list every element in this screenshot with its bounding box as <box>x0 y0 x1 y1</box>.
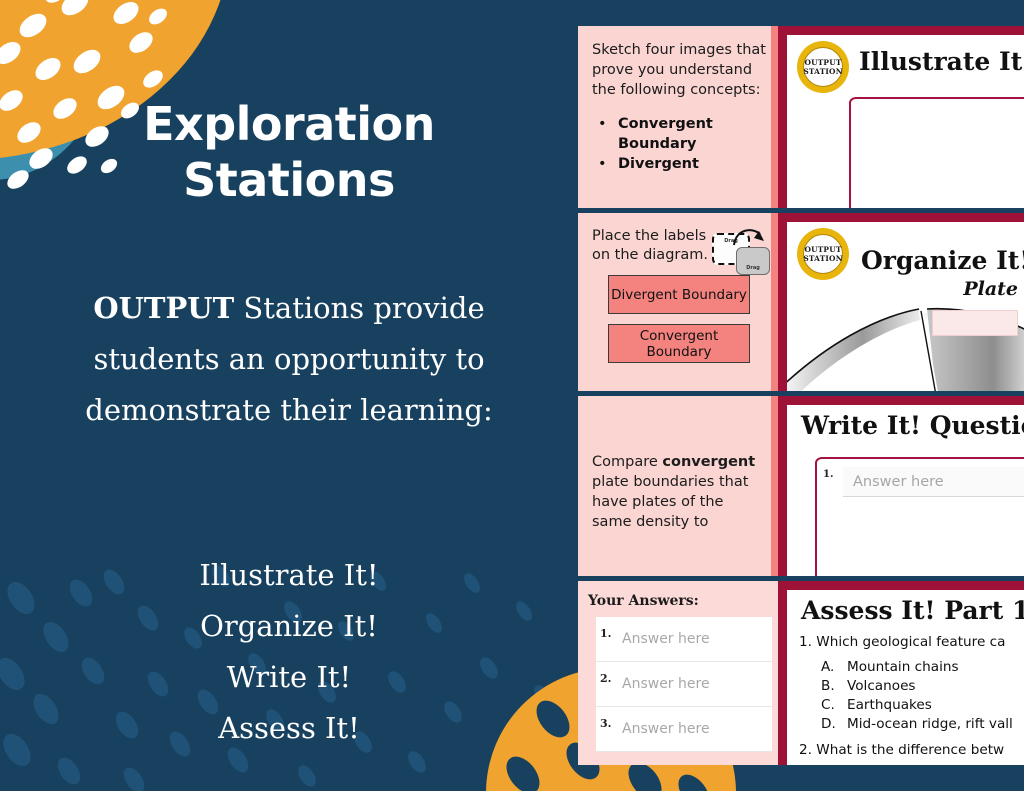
badge-line2: STATION <box>803 254 842 263</box>
bullet-item: Divergent <box>592 154 766 174</box>
page-title: Exploration Stations <box>0 96 578 208</box>
card-body-panel: OUTPUT STATION Organize It! Plate <box>778 213 1024 391</box>
answer-row[interactable]: 2. Answer here <box>596 662 772 707</box>
prompt-pre: Compare <box>592 454 662 470</box>
preview-card-illustrate[interactable]: Sketch four images that prove you unders… <box>578 26 1024 208</box>
plate-boundary-diagram <box>787 291 1024 391</box>
badge-inner-label: OUTPUT STATION <box>803 47 843 87</box>
card-heading: Assess It! Part 1 <box>801 596 1024 625</box>
badge-line1: OUTPUT <box>804 245 841 254</box>
draggable-label-chip[interactable]: Divergent Boundary <box>608 275 750 314</box>
card-prompt-panel: Place the labels on the diagram. Drag Dr… <box>578 213 778 391</box>
choice-text: Earthquakes <box>847 697 932 713</box>
choice-text: Mountain chains <box>847 659 959 675</box>
choice-item: B.Volcanoes <box>821 677 1024 696</box>
station-item-write: Write It! <box>36 652 542 703</box>
answer-row-placeholder: Answer here <box>622 631 710 647</box>
card-prompt-panel: Sketch four images that prove you unders… <box>578 26 778 208</box>
answer-row-placeholder: Answer here <box>622 676 710 692</box>
card-body-panel: Assess It! Part 1 1. Which geological fe… <box>778 581 1024 765</box>
answer-input[interactable]: Answer here <box>843 467 1024 497</box>
answers-label: Your Answers: <box>588 593 772 609</box>
prompt-strong: convergent <box>662 454 755 470</box>
chip-label: Divergent Boundary <box>611 287 747 303</box>
card-heading: Organize It! <box>861 246 1024 275</box>
preview-card-assess[interactable]: Your Answers: 1. Answer here 2. Answer h… <box>578 581 1024 765</box>
choice-letter: C. <box>821 696 847 715</box>
badge-line2: STATION <box>803 67 842 76</box>
curved-arrow-icon <box>732 225 766 251</box>
sketch-area-box[interactable] <box>849 97 1024 208</box>
poster-canvas: Exploration Stations OUTPUT Stations pro… <box>0 0 1024 791</box>
draggable-label-chip[interactable]: Convergent Boundary <box>608 324 750 363</box>
preview-card-stack: Sketch four images that prove you unders… <box>578 0 1024 791</box>
answer-row-number: 2. <box>600 672 611 685</box>
preview-card-write[interactable]: Compare convergent plate boundaries that… <box>578 396 1024 576</box>
choice-letter: B. <box>821 677 847 696</box>
station-item-illustrate: Illustrate It! <box>36 550 542 601</box>
station-item-organize: Organize It! <box>36 601 542 652</box>
choice-letter: A. <box>821 658 847 677</box>
assessment-question-2: 2. What is the difference betw <box>799 742 1024 758</box>
page-title-line2: Stations <box>0 152 578 208</box>
drag-and-drop-icon: Drag Drag <box>710 225 772 277</box>
output-station-badge-icon: OUTPUT STATION <box>797 228 849 280</box>
station-item-assess: Assess It! <box>36 703 542 754</box>
card-prompt-text: Sketch four images that prove you unders… <box>592 40 766 100</box>
prompt-post: plate boundaries that have plates of the… <box>592 474 748 530</box>
card-bullet-list: Convergent Boundary Divergent <box>592 114 766 174</box>
card-heading: Illustrate It! <box>859 47 1024 76</box>
chip-label: Convergent Boundary <box>609 328 749 360</box>
card-heading: Write It! Question <box>801 411 1024 440</box>
choice-item: C.Earthquakes <box>821 696 1024 715</box>
left-content-column: Exploration Stations OUTPUT Stations pro… <box>0 0 578 791</box>
card-answers-panel: Your Answers: 1. Answer here 2. Answer h… <box>578 581 778 765</box>
choice-letter: D. <box>821 715 847 734</box>
card-body-panel: Write It! Question 1. Answer here <box>778 396 1024 576</box>
assessment-choice-list: A.Mountain chains B.Volcanoes C.Earthqua… <box>821 658 1024 734</box>
answer-row-number: 1. <box>600 627 611 640</box>
page-title-line1: Exploration <box>0 96 578 152</box>
assessment-question-1: 1. Which geological feature ca <box>799 634 1024 651</box>
badge-line1: OUTPUT <box>804 58 841 67</box>
answer-row[interactable]: 1. Answer here <box>596 617 772 662</box>
choice-text: Mid-ocean ridge, rift vall <box>847 716 1013 732</box>
station-list: Illustrate It! Organize It! Write It! As… <box>36 550 542 754</box>
card-prompt-text: Compare convergent plate boundaries that… <box>592 452 766 532</box>
drag-source-box-icon: Drag <box>736 247 770 275</box>
choice-text: Volcanoes <box>847 678 916 694</box>
drag-label: Drag <box>746 265 760 271</box>
answer-row-number: 3. <box>600 717 611 730</box>
card-prompt-text: Place the labels on the diagram. <box>592 227 720 265</box>
intro-paragraph: OUTPUT Stations provide students an oppo… <box>36 283 542 436</box>
card-prompt-panel: Compare convergent plate boundaries that… <box>578 396 778 576</box>
preview-card-organize[interactable]: Place the labels on the diagram. Drag Dr… <box>578 213 1024 391</box>
answer-row-placeholder: Answer here <box>622 721 710 737</box>
question-number: 1. <box>823 469 833 480</box>
card-body-panel: OUTPUT STATION Illustrate It! <box>778 26 1024 208</box>
answer-row[interactable]: 3. Answer here <box>596 707 772 752</box>
bullet-item: Convergent Boundary <box>592 114 766 154</box>
intro-strong: OUTPUT <box>93 291 234 325</box>
label-drop-zone[interactable] <box>932 310 1018 336</box>
choice-item: D.Mid-ocean ridge, rift vall <box>821 715 1024 734</box>
plate-diagram-svg <box>787 291 1024 391</box>
choice-item: A.Mountain chains <box>821 658 1024 677</box>
output-station-badge-icon: OUTPUT STATION <box>797 41 849 93</box>
badge-inner-label: OUTPUT STATION <box>803 234 843 274</box>
